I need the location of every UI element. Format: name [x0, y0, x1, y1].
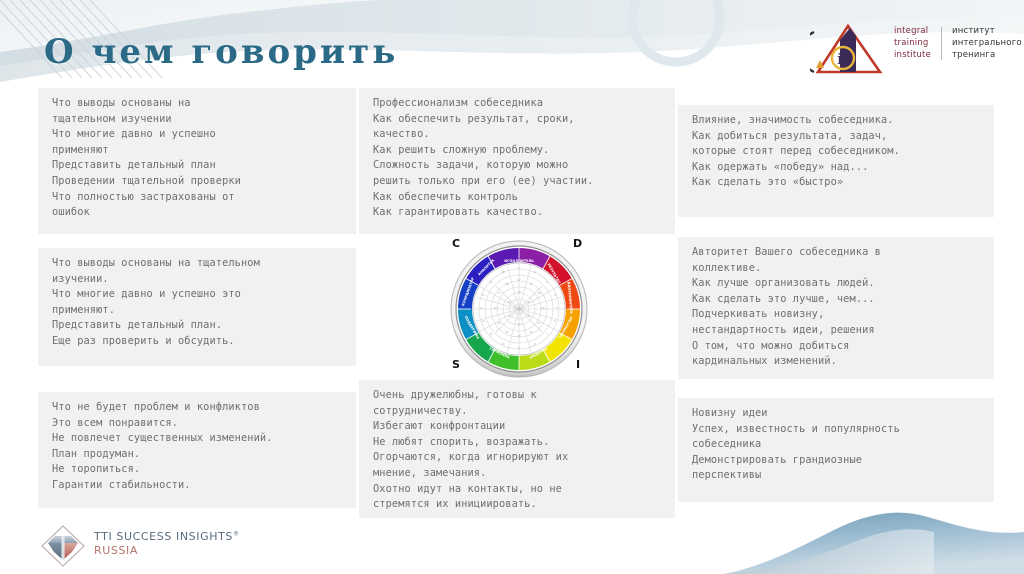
svg-text:ИСПОЛНИТЕЛЬ: ИСПОЛНИТЕЛЬ	[504, 259, 534, 263]
svg-text:19: 19	[537, 291, 541, 295]
svg-text:26: 26	[493, 306, 497, 310]
svg-text:22: 22	[529, 330, 533, 334]
svg-text:15: 15	[489, 280, 493, 284]
iti-ru-2: тренинга	[952, 50, 1022, 61]
svg-text:13: 13	[479, 306, 483, 310]
svg-text:30: 30	[527, 300, 531, 304]
wheel-label-i: I	[576, 358, 580, 371]
panel-s-talking-points: Что не будет проблем и конфликтов Это вс…	[38, 392, 356, 508]
svg-text:25: 25	[497, 321, 501, 325]
integral-training-institute-logo: it integral training institute институт …	[802, 18, 1012, 80]
wheel-label-c: C	[452, 237, 460, 250]
svg-text:23: 23	[517, 334, 521, 338]
iti-en-lines: integral training institute	[894, 26, 931, 61]
tti-line-1: TTI SUCCESS INSIGHTS®	[94, 530, 240, 543]
slide-canvas: О чем говорить it integral training inst…	[0, 0, 1024, 574]
iti-divider	[941, 27, 942, 60]
svg-text:27: 27	[497, 291, 501, 295]
panel-center-top: Профессионализм собеседника Как обеспечи…	[359, 88, 675, 234]
iti-ru-lines: институт интегрального тренинга	[952, 26, 1022, 61]
iti-ru-0: институт	[952, 26, 1022, 37]
svg-text:14: 14	[481, 293, 485, 297]
svg-text:11: 11	[489, 332, 493, 336]
panel-c-talking-points: Что выводы основаны на тщательном изучен…	[38, 88, 356, 234]
svg-text:24: 24	[505, 330, 509, 334]
iti-wordmark: integral training institute институт инт…	[894, 26, 1022, 61]
svg-text:32: 32	[517, 322, 521, 326]
svg-text:it: it	[837, 50, 848, 68]
svg-text:12: 12	[481, 319, 485, 323]
svg-text:16: 16	[501, 270, 505, 274]
tti-line-1-text: TTI SUCCESS INSIGHTS	[94, 530, 233, 543]
tti-diamond-icon	[40, 524, 86, 568]
tti-wordmark: TTI SUCCESS INSIGHTS® RUSSIA	[94, 530, 240, 557]
svg-text:35: 35	[517, 307, 521, 311]
footer-decoration	[724, 496, 1024, 574]
svg-text:17: 17	[517, 278, 521, 282]
panel-d-talking-points: Влияние, значимость собеседника. Как доб…	[678, 105, 994, 217]
wheel-label-d: D	[573, 237, 582, 250]
page-title: О чем говорить	[44, 32, 398, 72]
svg-text:10: 10	[501, 342, 505, 346]
svg-text:29: 29	[517, 290, 521, 294]
tti-registered-mark: ®	[233, 530, 240, 537]
panel-i-secondary: Новизну идеи Успех, известность и популя…	[678, 398, 994, 502]
iti-en-2: institute	[894, 50, 931, 61]
panel-i-talking-points: Авторитет Вашего собеседника в коллектив…	[678, 237, 994, 379]
tti-line-2: RUSSIA	[94, 544, 240, 557]
disc-wheel-graphic: 123 456 789 101112 131415 16 171819 2021…	[443, 236, 595, 382]
svg-text:34: 34	[507, 300, 511, 304]
svg-text:21: 21	[537, 321, 541, 325]
panel-c-secondary: Что выводы основаны на тщательном изучен…	[38, 248, 356, 366]
wheel-label-s: S	[452, 358, 460, 371]
svg-text:18: 18	[529, 282, 533, 286]
iti-en-1: training	[894, 38, 931, 49]
iti-logo-mark: it	[810, 22, 888, 78]
svg-text:28: 28	[505, 282, 509, 286]
svg-text:31: 31	[527, 314, 531, 318]
panel-center-bottom: Очень дружелюбны, готовы к сотрудничеств…	[359, 380, 675, 518]
tti-success-insights-russia-logo: TTI SUCCESS INSIGHTS® RUSSIA	[40, 524, 270, 568]
iti-en-0: integral	[894, 26, 931, 37]
iti-ru-1: интегрального	[952, 38, 1022, 49]
svg-text:20: 20	[541, 306, 545, 310]
disc-wheel: 123 456 789 101112 131415 16 171819 2021…	[443, 236, 595, 382]
svg-text:33: 33	[507, 314, 511, 318]
